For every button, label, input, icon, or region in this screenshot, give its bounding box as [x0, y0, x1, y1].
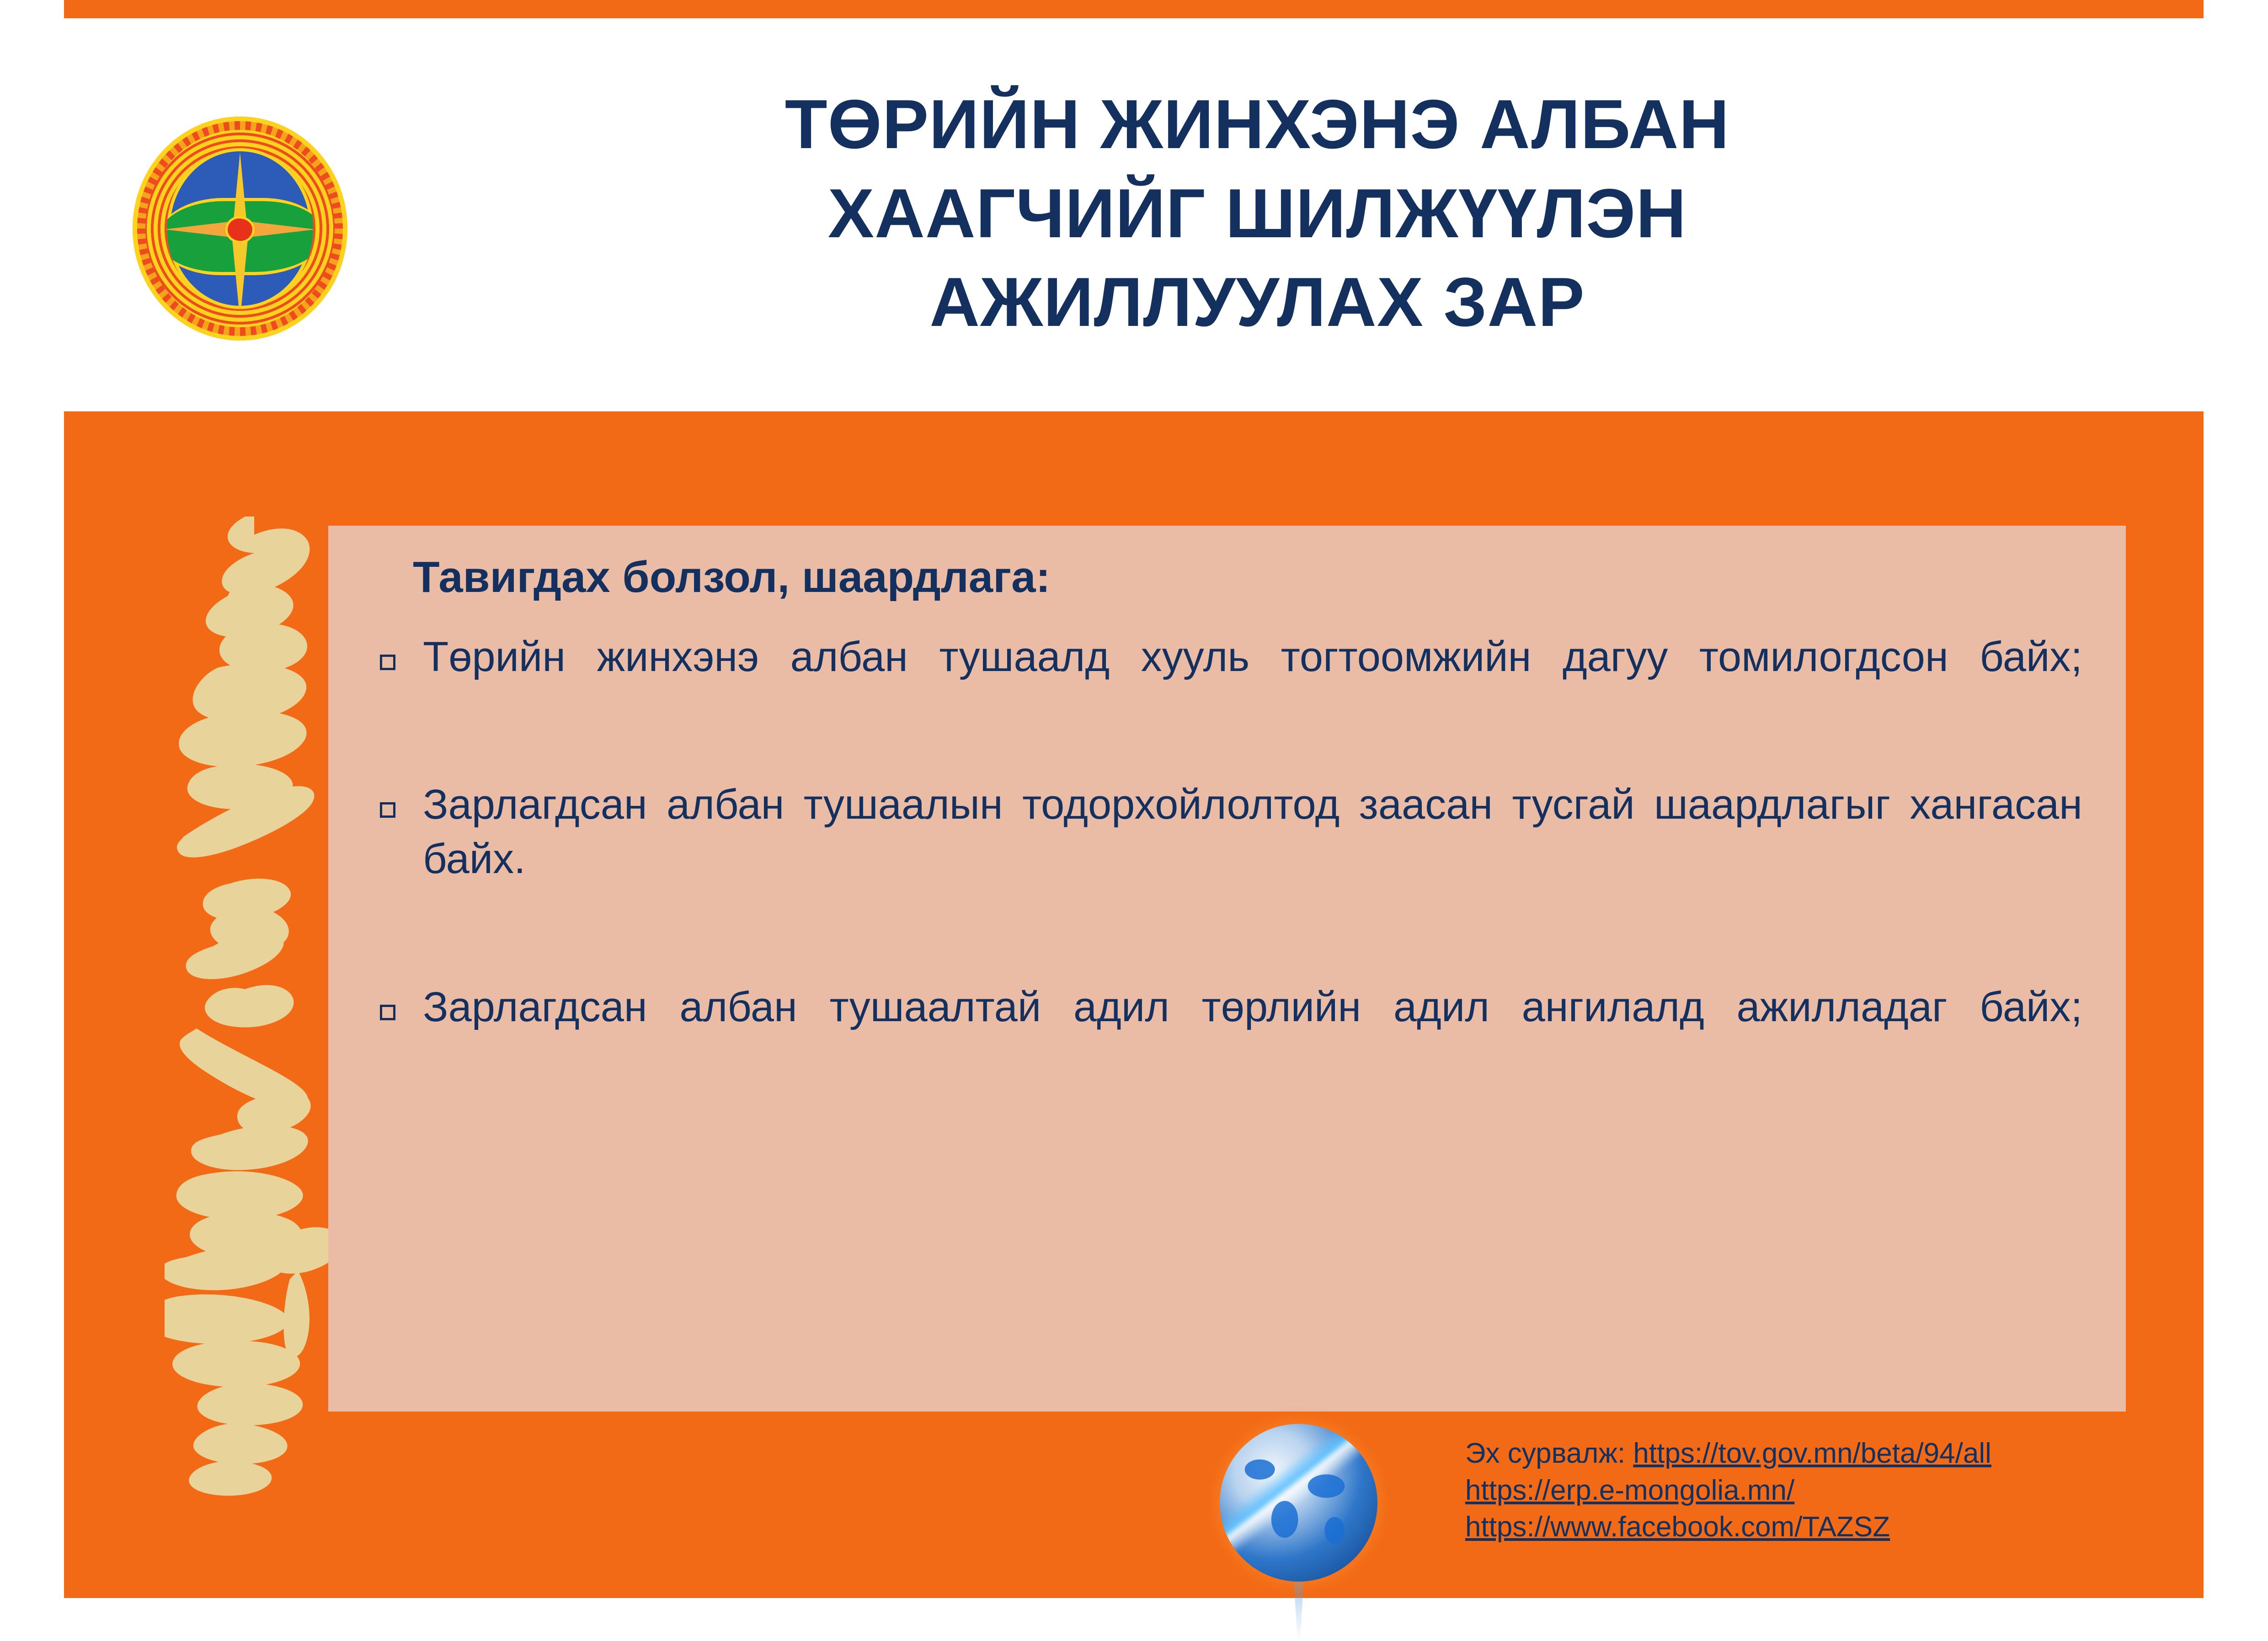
list-item-text: Зарлагдсан албан тушаалтай адил төрлийн …	[423, 980, 2082, 1089]
slide-root: ТӨРИЙН ЖИНХЭНЭ АЛБАН ХААГЧИЙГ ШИЛЖҮҮЛЭН …	[0, 0, 2268, 1604]
globe-internet-icon	[1211, 1419, 1393, 1602]
emblem-center-flame	[228, 218, 252, 241]
list-item-text: Зарлагдсан албан тушаалын тодорхойлолтод…	[423, 778, 2082, 942]
bullet-square-icon	[380, 655, 395, 670]
card-heading: Тавигдах болзол, шаардлага:	[413, 553, 2082, 602]
bullet-square-icon	[380, 802, 395, 818]
globe-sphere	[1220, 1424, 1377, 1582]
requirements-card: Тавигдах болзол, шаардлага: Төрийн жинхэ…	[328, 526, 2126, 1412]
page-title: ТӨРИЙН ЖИНХЭНЭ АЛБАН ХААГЧИЙГ ШИЛЖҮҮЛЭН …	[503, 80, 2012, 347]
list-item: Зарлагдсан албан тушаалтай адил төрлийн …	[372, 980, 2082, 1089]
source-label: Эх сурвалж:	[1465, 1438, 1625, 1469]
mongolia-tov-aimag-emblem-icon	[133, 117, 347, 341]
page-title-line-3: АЖИЛЛУУЛАХ ЗАР	[503, 258, 2012, 347]
requirements-list: Төрийн жинхэнэ албан тушаалд хууль тогто…	[372, 630, 2082, 1089]
page-title-line-2: ХААГЧИЙГ ШИЛЖҮҮЛЭН	[503, 169, 2012, 258]
source-links-block: Эх сурвалж: https://tov.gov.mn/beta/94/a…	[1465, 1435, 2188, 1546]
source-line-1: Эх сурвалж: https://tov.gov.mn/beta/94/a…	[1465, 1435, 2188, 1472]
emblem-inner-disc	[167, 148, 313, 309]
list-item-text: Төрийн жинхэнэ албан тушаалд хууль тогто…	[423, 630, 2082, 739]
source-link-facebook[interactable]: https://www.facebook.com/TAZSZ	[1465, 1511, 1890, 1543]
bullet-square-icon	[380, 1005, 395, 1020]
list-item: Зарлагдсан албан тушаалын тодорхойлолтод…	[372, 778, 2082, 942]
page-title-line-1: ТӨРИЙН ЖИНХЭНЭ АЛБАН	[503, 80, 2012, 169]
source-line-3: https://www.facebook.com/TAZSZ	[1465, 1509, 2188, 1546]
source-link-tov[interactable]: https://tov.gov.mn/beta/94/all	[1633, 1438, 1991, 1469]
list-item: Төрийн жинхэнэ албан тушаалд хууль тогто…	[372, 630, 2082, 739]
source-link-erp[interactable]: https://erp.e-mongolia.mn/	[1465, 1475, 1794, 1506]
source-line-2: https://erp.e-mongolia.mn/	[1465, 1472, 2188, 1509]
